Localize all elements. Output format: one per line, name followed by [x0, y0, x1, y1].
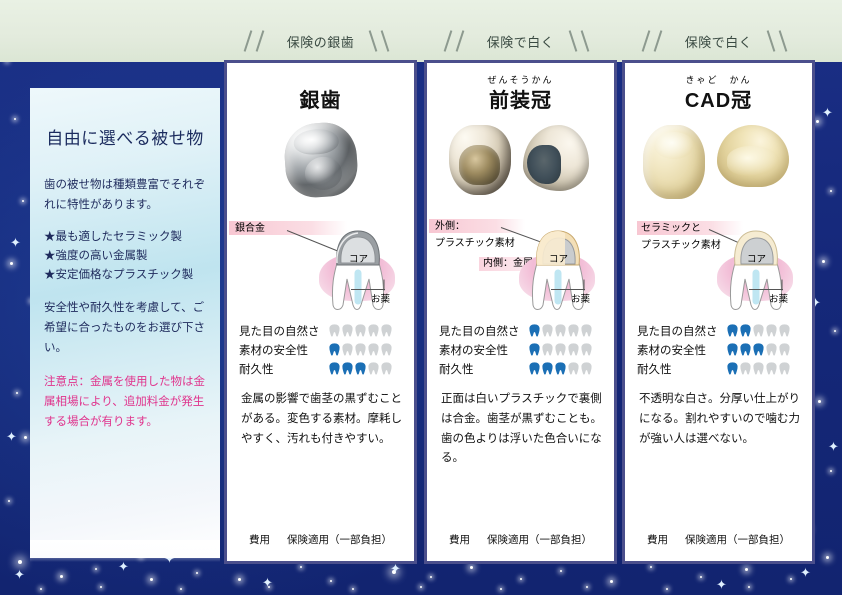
sparkle-icon: ✦	[828, 440, 839, 453]
leader-line	[782, 280, 783, 291]
callout-label-outer: 外側：	[435, 220, 465, 235]
tooth-rating-icon	[342, 324, 353, 337]
tooth-rating-icon	[568, 324, 579, 337]
tooth-rating-icon	[555, 362, 566, 375]
tooth-rating-icon	[766, 324, 777, 337]
header-label-2: 保険で白く	[475, 32, 567, 51]
panel-intro-text: 歯の被せ物は種類豊富でそれぞれに特性があります。	[44, 175, 206, 215]
star-dot	[60, 575, 63, 578]
infographic-canvas: ✦✦✦✦✦✦✦✦✦✦✦✦ 保険の銀歯 保険で白く 保険で白く 自由に選べる被せ物…	[0, 0, 842, 595]
rating-label: 素材の安全性	[637, 342, 723, 358]
card-cost-row: 費用 保険適用（一部負担）	[227, 532, 414, 547]
tooth-rating-icon	[381, 324, 392, 337]
star-dot	[18, 560, 22, 564]
tooth-rating-icon	[355, 324, 366, 337]
panel-title: 自由に選べる被せ物	[44, 124, 206, 149]
tooth-rating-icon	[368, 362, 379, 375]
card-description: 金属の影響で歯茎の黒ずむことがある。変色する素材。摩耗しやすく、汚れも付きやすい…	[227, 378, 414, 449]
cost-value: 保険適用（一部負担）	[287, 534, 392, 546]
header-label-1: 保険の銀歯	[275, 32, 367, 51]
sparkle-icon: ✦	[14, 568, 25, 581]
star-dot	[666, 588, 668, 590]
crown-render-occlusal	[643, 125, 705, 199]
panel-advice-text: 安全性や耐久性を考慮して、ご希望に合ったものをお選び下さい。	[44, 298, 206, 358]
card-title: 前装冠	[427, 84, 614, 113]
star-dot	[834, 330, 836, 332]
leader-line	[584, 280, 585, 291]
tooth-rating-icon	[529, 362, 540, 375]
card-cost-row: 費用 保険適用（一部負担）	[625, 532, 812, 547]
star-dot	[238, 578, 241, 581]
card-title-ruby: ぜんそうかん	[427, 73, 614, 84]
star-dot	[352, 588, 354, 590]
star-dot	[748, 586, 750, 588]
rating-label: 耐久性	[239, 361, 325, 377]
star-dot	[470, 566, 473, 569]
card-cost-row: 費用 保険適用（一部負担）	[427, 532, 614, 547]
tooth-rating-icon	[368, 343, 379, 356]
tooth-rating-icon	[368, 324, 379, 337]
core-label: コア	[349, 251, 368, 265]
star-dot	[22, 200, 24, 202]
callout-label-ceramic: セラミックと	[641, 222, 701, 237]
tooth-rating-icon	[727, 362, 738, 375]
left-info-panel: 自由に選べる被せ物 歯の被せ物は種類豊富でそれぞれに特性があります。 ★最も適し…	[30, 88, 220, 558]
rating-meter	[727, 362, 790, 375]
rating-row-appearance: 見た目の自然さ	[439, 321, 614, 340]
tooth-rating-icon	[766, 362, 777, 375]
star-dot	[830, 190, 832, 192]
star-dot	[816, 120, 819, 123]
tooth-rating-icon	[529, 324, 540, 337]
tooth-rating-icon	[329, 343, 340, 356]
tooth-rating-icon	[342, 362, 353, 375]
panel-bullet-item: ★最も適したセラミック製	[44, 231, 182, 243]
rating-label: 素材の安全性	[439, 342, 525, 358]
rating-meter	[329, 362, 392, 375]
core-label: コア	[549, 251, 568, 265]
tooth-rating-icon	[740, 343, 751, 356]
rating-meter	[727, 343, 790, 356]
header-label-3: 保険で白く	[673, 32, 765, 51]
silver-metal-crown-photo	[227, 111, 414, 213]
tooth-rating-icon	[779, 343, 790, 356]
tooth-rating-icon	[727, 343, 738, 356]
star-dot	[150, 578, 153, 581]
slash-left-icon	[441, 28, 475, 54]
star-dot	[500, 588, 502, 590]
star-dot	[10, 262, 13, 265]
card-title: 銀歯	[227, 84, 414, 113]
tooth-rating-icon	[542, 324, 553, 337]
tooth-rating-icon	[355, 343, 366, 356]
slash-right-icon	[566, 28, 600, 54]
tooth-rating-icon	[329, 324, 340, 337]
panel-bullet-list: ★最も適したセラミック製★強度の高い金属製★安定価格なプラスチック製	[44, 228, 206, 285]
cost-key: 費用	[647, 534, 668, 546]
tooth-rating-icon	[766, 343, 777, 356]
rating-meter	[529, 343, 592, 356]
star-dot	[830, 470, 832, 472]
star-dot	[520, 578, 522, 580]
star-dot	[818, 400, 821, 403]
star-dot	[16, 392, 18, 394]
tooth-rating-icon	[529, 343, 540, 356]
star-dot	[822, 260, 825, 263]
leader-line	[551, 289, 585, 290]
star-dot	[560, 570, 562, 572]
tooth-rating-icon	[740, 362, 751, 375]
crown-render-side	[717, 125, 789, 187]
crown-card-zensoukan[interactable]: ぜんそうかん 前装冠 外側： プラスチック素材 内側：金属 コア	[424, 60, 617, 564]
leader-line	[351, 289, 385, 290]
tooth-rating-icon	[568, 343, 579, 356]
tooth-rating-icon	[779, 324, 790, 337]
rating-list-2: 見た目の自然さ 素材の安全性 耐久性	[427, 315, 614, 378]
slash-left-icon	[639, 28, 673, 54]
star-dot	[430, 576, 432, 578]
slash-right-icon	[764, 28, 798, 54]
medicine-label: お薬	[371, 291, 390, 305]
tooth-rating-icon	[581, 343, 592, 356]
star-dot	[95, 568, 97, 570]
cad-resin-crown-photo	[625, 111, 812, 213]
star-dot	[745, 568, 748, 571]
tooth-rating-icon	[581, 362, 592, 375]
rating-label: 見た目の自然さ	[637, 323, 723, 339]
star-dot	[14, 118, 16, 120]
crown-card-cad[interactable]: きゃど かん CAD冠 セラミックと プラスチック素材 コア お薬	[622, 60, 815, 564]
star-dot	[700, 576, 702, 578]
card-description: 正面は白いプラスチックで裏側は合金。歯茎が黒ずむことも。歯の色よりは浮いた色合い…	[427, 378, 614, 469]
star-dot	[610, 580, 613, 583]
header-label-group-1: 保険の銀歯	[224, 27, 417, 55]
tooth-cross-section-diagram-2: 外側： プラスチック素材 内側：金属 コア お薬	[427, 213, 614, 315]
tooth-rating-icon	[753, 324, 764, 337]
rating-row-safety: 素材の安全性	[439, 340, 614, 359]
panel-warning-text: 注意点：金属を使用した物は金属相場により、追加料金が発生する場合が有ります。	[44, 372, 206, 432]
tooth-rating-icon	[581, 324, 592, 337]
tooth-rating-icon	[779, 362, 790, 375]
sparkle-icon: ✦	[6, 430, 17, 443]
sparkle-icon: ✦	[10, 236, 21, 249]
tooth-rating-icon	[381, 343, 392, 356]
rating-row-safety: 素材の安全性	[637, 340, 812, 359]
rating-meter	[329, 343, 392, 356]
rating-label: 素材の安全性	[239, 342, 325, 358]
star-dot	[330, 580, 332, 582]
card-title: CAD冠	[625, 84, 812, 113]
crown-card-ginba[interactable]: 銀歯 銀合金 コア お薬 見た目の自然さ	[224, 60, 417, 564]
sparkle-icon: ✦	[262, 576, 273, 589]
tooth-rating-icon	[568, 362, 579, 375]
rating-meter	[529, 362, 592, 375]
star-dot	[24, 436, 27, 439]
rating-row-durability: 耐久性	[239, 359, 414, 378]
header-label-group-3: 保険で白く	[622, 27, 815, 55]
panel-bullet-item: ★安定価格なプラスチック製	[44, 269, 193, 281]
rating-row-appearance: 見た目の自然さ	[239, 321, 414, 340]
tooth-rating-icon	[381, 362, 392, 375]
panel-bullet-item: ★強度の高い金属製	[44, 250, 148, 262]
rating-label: 耐久性	[637, 361, 723, 377]
core-label: コア	[747, 251, 766, 265]
rating-row-safety: 素材の安全性	[239, 340, 414, 359]
slash-left-icon	[241, 28, 275, 54]
card-title-ruby	[227, 73, 414, 84]
cost-value: 保険適用（一部負担）	[685, 534, 790, 546]
rating-label: 見た目の自然さ	[439, 323, 525, 339]
card-description: 不透明な白さ。分厚い仕上がりになる。割れやすいので噛む力が強い人は選べない。	[625, 378, 812, 449]
callout-label-plastic: プラスチック素材	[641, 239, 721, 254]
card-title-block: ぜんそうかん 前装冠	[427, 63, 614, 111]
tooth-rating-icon	[542, 343, 553, 356]
leader-line	[749, 289, 783, 290]
card-title-block: 銀歯	[227, 63, 414, 111]
tooth-rating-icon	[555, 324, 566, 337]
star-dot	[180, 588, 182, 590]
star-dot	[196, 572, 198, 574]
tooth-rating-icon	[555, 343, 566, 356]
header-label-group-2: 保険で白く	[424, 27, 617, 55]
rating-list-3: 見た目の自然さ 素材の安全性 耐久性	[625, 315, 812, 378]
tooth-rating-icon	[753, 343, 764, 356]
slash-right-icon	[366, 28, 400, 54]
medicine-label: お薬	[571, 291, 590, 305]
tooth-rating-icon	[753, 362, 764, 375]
veneer-crown-photo	[427, 111, 614, 213]
sparkle-icon: ✦	[716, 578, 727, 591]
cost-value: 保険適用（一部負担）	[487, 534, 592, 546]
tooth-rating-icon	[740, 324, 751, 337]
rating-label: 耐久性	[439, 361, 525, 377]
rating-row-durability: 耐久性	[439, 359, 614, 378]
callout-label-ginkougin: 銀合金	[235, 222, 265, 237]
star-dot	[420, 586, 422, 588]
leader-line	[384, 280, 385, 291]
crown-render-back	[523, 125, 589, 191]
star-dot	[586, 586, 588, 588]
sparkle-icon: ✦	[800, 566, 811, 579]
crown-render-front	[449, 125, 511, 195]
rating-meter	[727, 324, 790, 337]
tooth-rating-icon	[727, 324, 738, 337]
tooth-cross-section-diagram-3: セラミックと プラスチック素材 コア お薬	[625, 213, 812, 315]
callout-label-outer-material: プラスチック素材	[435, 237, 515, 252]
card-title-block: きゃど かん CAD冠	[625, 63, 812, 111]
rating-meter	[329, 324, 392, 337]
tooth-cross-section-diagram-1: 銀合金 コア お薬	[227, 213, 414, 315]
panel-bottom-fade	[30, 540, 220, 562]
rating-meter	[529, 324, 592, 337]
tooth-rating-icon	[342, 343, 353, 356]
star-dot	[650, 566, 652, 568]
tooth-rating-icon	[542, 362, 553, 375]
cost-key: 費用	[449, 534, 470, 546]
tooth-rating-icon	[329, 362, 340, 375]
star-dot	[826, 556, 829, 559]
rating-list-1: 見た目の自然さ 素材の安全性 耐久性	[227, 315, 414, 378]
rating-label: 見た目の自然さ	[239, 323, 325, 339]
tooth-rating-icon	[355, 362, 366, 375]
crown-render	[282, 121, 359, 200]
star-dot	[790, 578, 792, 580]
rating-row-durability: 耐久性	[637, 359, 812, 378]
star-dot	[40, 588, 42, 590]
medicine-label: お薬	[769, 291, 788, 305]
rating-row-appearance: 見た目の自然さ	[637, 321, 812, 340]
sparkle-icon: ✦	[822, 106, 833, 119]
star-dot	[100, 586, 102, 588]
star-dot	[8, 500, 10, 502]
star-dot	[300, 566, 302, 568]
card-title-ruby: きゃど かん	[625, 73, 812, 84]
cost-key: 費用	[249, 534, 270, 546]
